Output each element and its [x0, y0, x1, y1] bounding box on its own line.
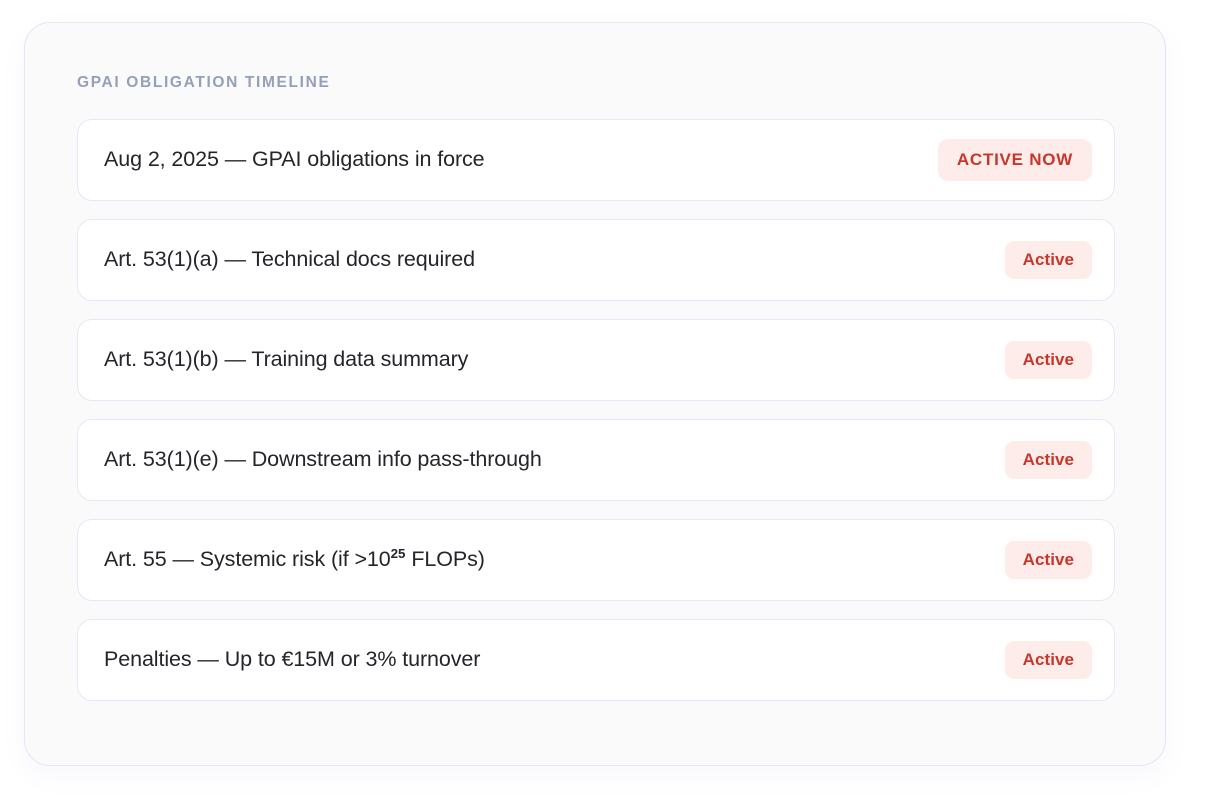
timeline-row-label: Art. 53(1)(e) — Downstream info pass-thr… — [104, 447, 542, 473]
exponent-superscript: 25 — [391, 545, 406, 560]
status-badge: Active — [1005, 441, 1092, 479]
status-badge: ACTIVE NOW — [938, 139, 1092, 181]
panel-title: GPAI OBLIGATION TIMELINE — [77, 75, 1115, 91]
timeline-row[interactable]: Art. 53(1)(b) — Training data summaryAct… — [77, 319, 1115, 401]
timeline-row-label: Penalties — Up to €15M or 3% turnover — [104, 647, 480, 673]
status-badge: Active — [1005, 541, 1092, 579]
timeline-row[interactable]: Aug 2, 2025 — GPAI obligations in forceA… — [77, 119, 1115, 201]
status-badge: Active — [1005, 641, 1092, 679]
timeline-row-label: Art. 53(1)(a) — Technical docs required — [104, 247, 475, 273]
timeline-row-label: Aug 2, 2025 — GPAI obligations in force — [104, 147, 485, 173]
page-root: GPAI OBLIGATION TIMELINE Aug 2, 2025 — G… — [0, 0, 1206, 798]
timeline-row[interactable]: Art. 55 — Systemic risk (if >1025 FLOPs)… — [77, 519, 1115, 601]
timeline-row[interactable]: Art. 53(1)(a) — Technical docs requiredA… — [77, 219, 1115, 301]
timeline-row[interactable]: Penalties — Up to €15M or 3% turnoverAct… — [77, 619, 1115, 701]
status-badge: Active — [1005, 241, 1092, 279]
status-badge: Active — [1005, 341, 1092, 379]
timeline-row-label: Art. 55 — Systemic risk (if >1025 FLOPs) — [104, 547, 485, 573]
gpai-obligation-timeline-panel: GPAI OBLIGATION TIMELINE Aug 2, 2025 — G… — [24, 22, 1166, 766]
timeline-row-label: Art. 53(1)(b) — Training data summary — [104, 347, 468, 373]
timeline-row[interactable]: Art. 53(1)(e) — Downstream info pass-thr… — [77, 419, 1115, 501]
timeline-list: Aug 2, 2025 — GPAI obligations in forceA… — [77, 119, 1115, 701]
